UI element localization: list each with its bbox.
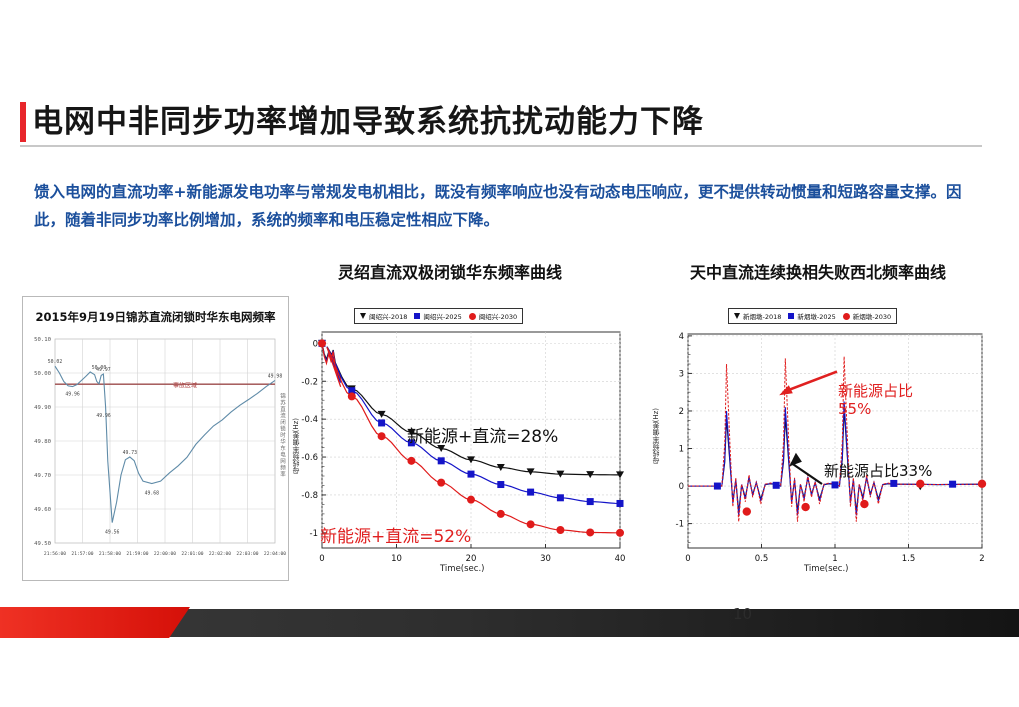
svg-text:49.98: 49.98	[268, 373, 283, 379]
svg-text:事故区域: 事故区域	[173, 382, 197, 390]
svg-text:22:02:00: 22:02:00	[209, 551, 231, 557]
chart-left-plot: 50.1050.0049.9049.8049.7049.6049.5021:56…	[23, 297, 288, 580]
svg-text:40: 40	[615, 554, 626, 564]
slide-body-text: 馈入电网的直流功率+新能源发电功率与常规发电机相比，既没有频率响应也没有动态电压…	[34, 178, 984, 234]
svg-text:50.00: 50.00	[34, 371, 51, 377]
svg-text:22:04:00: 22:04:00	[264, 551, 286, 557]
svg-text:0.5: 0.5	[755, 554, 769, 564]
chart-middle-ylabel: 母线频率偏差(Hz)	[291, 418, 301, 474]
title-accent-bar	[20, 102, 26, 142]
chart-right-xlabel: Time(sec.)	[804, 564, 848, 574]
svg-text:0: 0	[679, 482, 684, 492]
svg-text:50.02: 50.02	[48, 359, 63, 365]
svg-text:21:56:00: 21:56:00	[44, 551, 66, 557]
chart-middle-annotation-52: 新能源+直流=52%	[320, 522, 471, 547]
title-underline	[20, 145, 982, 147]
svg-text:4: 4	[679, 332, 684, 342]
svg-text:30: 30	[540, 554, 551, 564]
svg-text:49.73: 49.73	[123, 450, 138, 456]
svg-text:2: 2	[979, 554, 984, 564]
chart-middle-xlabel: Time(sec.)	[440, 564, 484, 574]
chart-left-side-label: 锦苏直流闭锁时华东电网频率	[278, 393, 286, 478]
chart-caption-right: 天中直流连续换相失败西北频率曲线	[690, 259, 946, 283]
svg-text:0: 0	[313, 339, 318, 349]
chart-left: 2015年9月19日锦苏直流闭锁时华东电网频率 50.1050.0049.904…	[22, 296, 289, 581]
chart-middle-annotation-28: 新能源+直流=28%	[407, 422, 558, 447]
svg-text:21:58:00: 21:58:00	[99, 551, 121, 557]
svg-text:49.90: 49.90	[34, 405, 51, 411]
page-number: 10	[733, 605, 752, 623]
chart-right-annotation-55-line2: 55%	[838, 400, 913, 418]
svg-text:-0.6: -0.6	[301, 453, 318, 463]
chart-right-ylabel: 母线频率偏差(Hz)	[651, 408, 661, 464]
svg-text:-0.4: -0.4	[301, 415, 318, 425]
svg-text:49.96: 49.96	[96, 413, 111, 419]
svg-text:1: 1	[679, 445, 684, 455]
svg-text:49.50: 49.50	[34, 541, 51, 547]
svg-text:-1: -1	[676, 520, 684, 530]
svg-text:3: 3	[679, 369, 684, 379]
svg-text:22:00:00: 22:00:00	[154, 551, 176, 557]
chart-right-annotation-55-line1: 新能源占比	[838, 382, 913, 400]
svg-text:21:59:00: 21:59:00	[126, 551, 148, 557]
svg-text:20: 20	[466, 554, 477, 564]
svg-text:-1: -1	[310, 529, 318, 539]
svg-text:49.80: 49.80	[34, 439, 51, 445]
svg-text:21:57:00: 21:57:00	[71, 551, 93, 557]
svg-text:49.56: 49.56	[105, 530, 120, 536]
chart-right: 新烟墩-2018 新烟墩-2025 新烟墩-2030 00.511.524321…	[652, 300, 997, 580]
chart-right-plot: 00.511.5243210-1	[652, 300, 997, 580]
svg-text:22:01:00: 22:01:00	[181, 551, 203, 557]
slide-title-block: 电网中非同步功率增加导致系统抗扰动能力下降	[0, 98, 1019, 150]
svg-text:49.68: 49.68	[145, 491, 160, 497]
svg-text:1: 1	[832, 554, 837, 564]
svg-text:0: 0	[319, 554, 324, 564]
chart-right-annotation-55: 新能源占比 55%	[838, 382, 913, 418]
svg-text:0: 0	[685, 554, 690, 564]
svg-text:10: 10	[391, 554, 402, 564]
svg-text:-0.2: -0.2	[301, 377, 318, 387]
svg-text:49.70: 49.70	[34, 473, 51, 479]
svg-text:49.96: 49.96	[65, 392, 80, 398]
svg-text:-0.8: -0.8	[301, 491, 318, 501]
svg-text:49.60: 49.60	[34, 507, 51, 513]
chart-caption-middle: 灵绍直流双极闭锁华东频率曲线	[338, 259, 562, 283]
svg-text:2: 2	[679, 407, 684, 417]
svg-text:50.10: 50.10	[34, 337, 51, 343]
svg-text:1.5: 1.5	[902, 554, 916, 564]
svg-text:49.97: 49.97	[96, 367, 111, 373]
page-title: 电网中非同步功率增加导致系统抗扰动能力下降	[32, 96, 704, 141]
svg-text:22:03:00: 22:03:00	[236, 551, 258, 557]
footer-red-bar	[0, 607, 190, 638]
chart-middle: 闽绍兴-2018 闽绍兴-2025 闽绍兴-2030 0102030400-0.…	[292, 300, 632, 580]
chart-right-annotation-33: 新能源占比33%	[824, 460, 932, 481]
